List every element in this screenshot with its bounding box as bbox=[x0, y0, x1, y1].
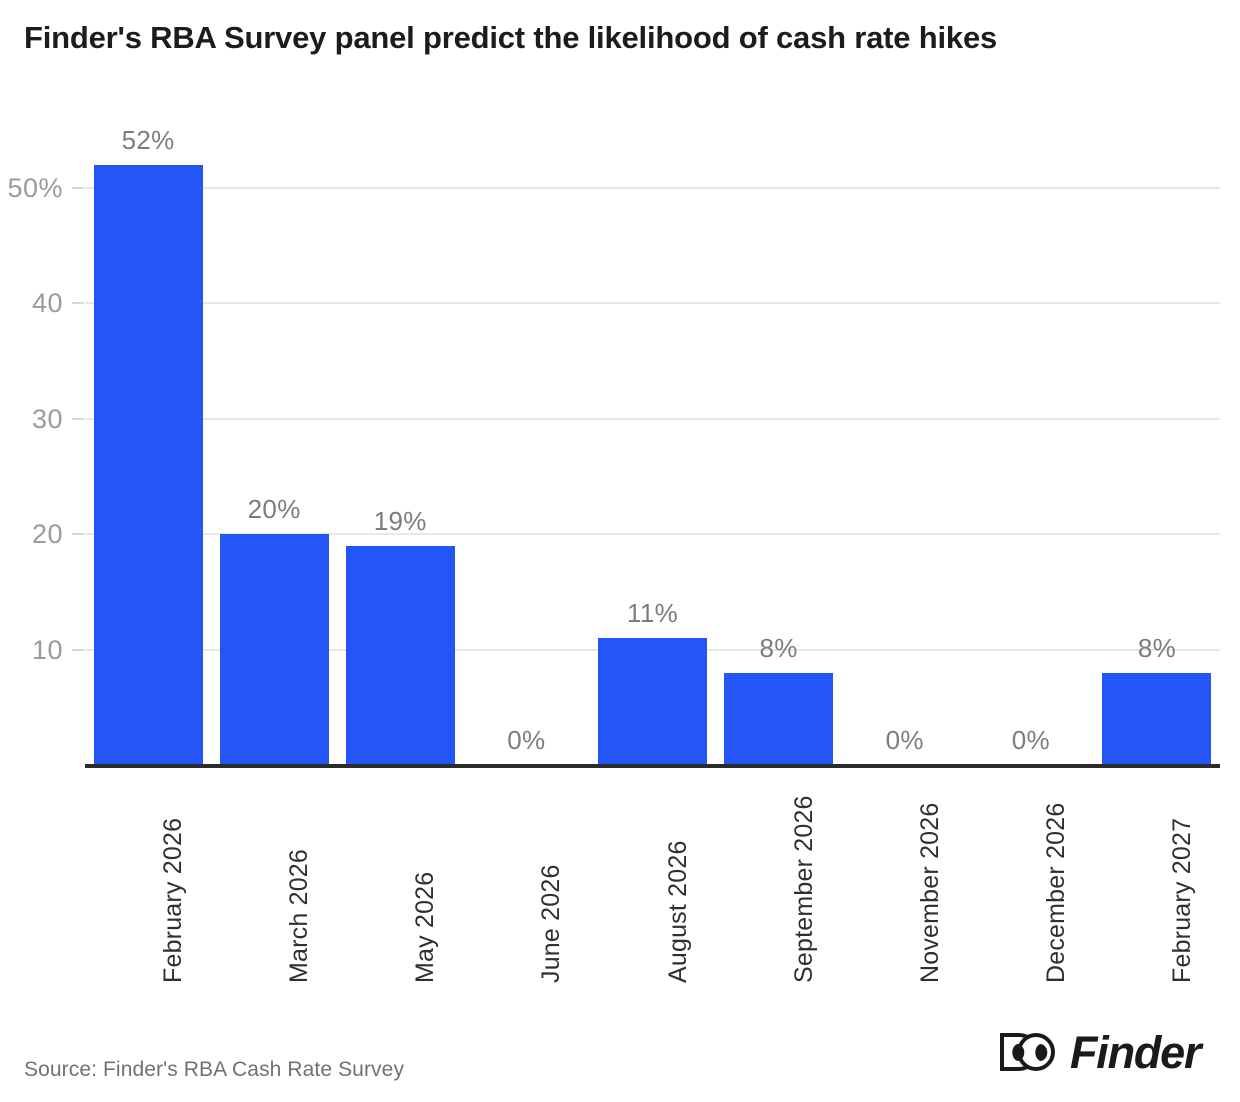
y-axis-tick-label: 30 bbox=[0, 406, 63, 433]
x-axis-tick-label: August 2026 bbox=[664, 840, 693, 983]
x-axis-tick-label: November 2026 bbox=[916, 803, 945, 983]
y-axis-tick bbox=[72, 533, 84, 535]
x-axis-tick-label: February 2027 bbox=[1168, 818, 1197, 983]
bar-chart-plot-area: 52%20%19%0%11%8%0%0%8% 50%40302010 Febru… bbox=[0, 0, 1240, 1010]
bar-value-label: 8% bbox=[1080, 635, 1233, 661]
bar[interactable] bbox=[94, 165, 203, 765]
bar-value-label: 8% bbox=[702, 635, 855, 661]
x-axis-tick-label: December 2026 bbox=[1042, 803, 1071, 983]
gridline bbox=[85, 418, 1220, 420]
gridline bbox=[85, 187, 1220, 189]
bar[interactable] bbox=[724, 673, 833, 765]
x-axis-tick-label: September 2026 bbox=[790, 795, 819, 983]
y-axis-tick-label: 20 bbox=[0, 521, 63, 548]
y-axis-tick-label: 10 bbox=[0, 637, 63, 664]
y-axis-tick bbox=[72, 649, 84, 651]
x-axis-tick-label: March 2026 bbox=[285, 849, 314, 983]
x-axis-tick-label: February 2026 bbox=[159, 818, 188, 983]
bar-value-label: 11% bbox=[576, 600, 729, 626]
bar-value-label: 0% bbox=[450, 727, 603, 753]
y-axis-tick-label: 50% bbox=[0, 175, 63, 202]
x-axis-baseline bbox=[85, 764, 1220, 768]
y-axis-tick bbox=[72, 187, 84, 189]
bar[interactable] bbox=[1102, 673, 1211, 765]
bar[interactable] bbox=[346, 546, 455, 765]
finder-logo: Finder bbox=[998, 1026, 1218, 1078]
source-note: Source: Finder's RBA Cash Rate Survey bbox=[24, 1058, 404, 1082]
finder-eyes-icon bbox=[998, 1031, 1066, 1073]
bar-value-label: 52% bbox=[72, 127, 225, 153]
y-axis-tick-label: 40 bbox=[0, 290, 63, 317]
bar-value-label: 0% bbox=[954, 727, 1107, 753]
bar[interactable] bbox=[598, 638, 707, 765]
gridline bbox=[85, 302, 1220, 304]
bar-value-label: 19% bbox=[324, 508, 477, 534]
y-axis-tick bbox=[72, 418, 84, 420]
x-axis-tick-label: June 2026 bbox=[537, 864, 566, 983]
x-axis-tick-label: May 2026 bbox=[411, 872, 440, 983]
finder-wordmark: Finder bbox=[1070, 1030, 1200, 1075]
bar[interactable] bbox=[220, 534, 329, 765]
y-axis-tick bbox=[72, 302, 84, 304]
